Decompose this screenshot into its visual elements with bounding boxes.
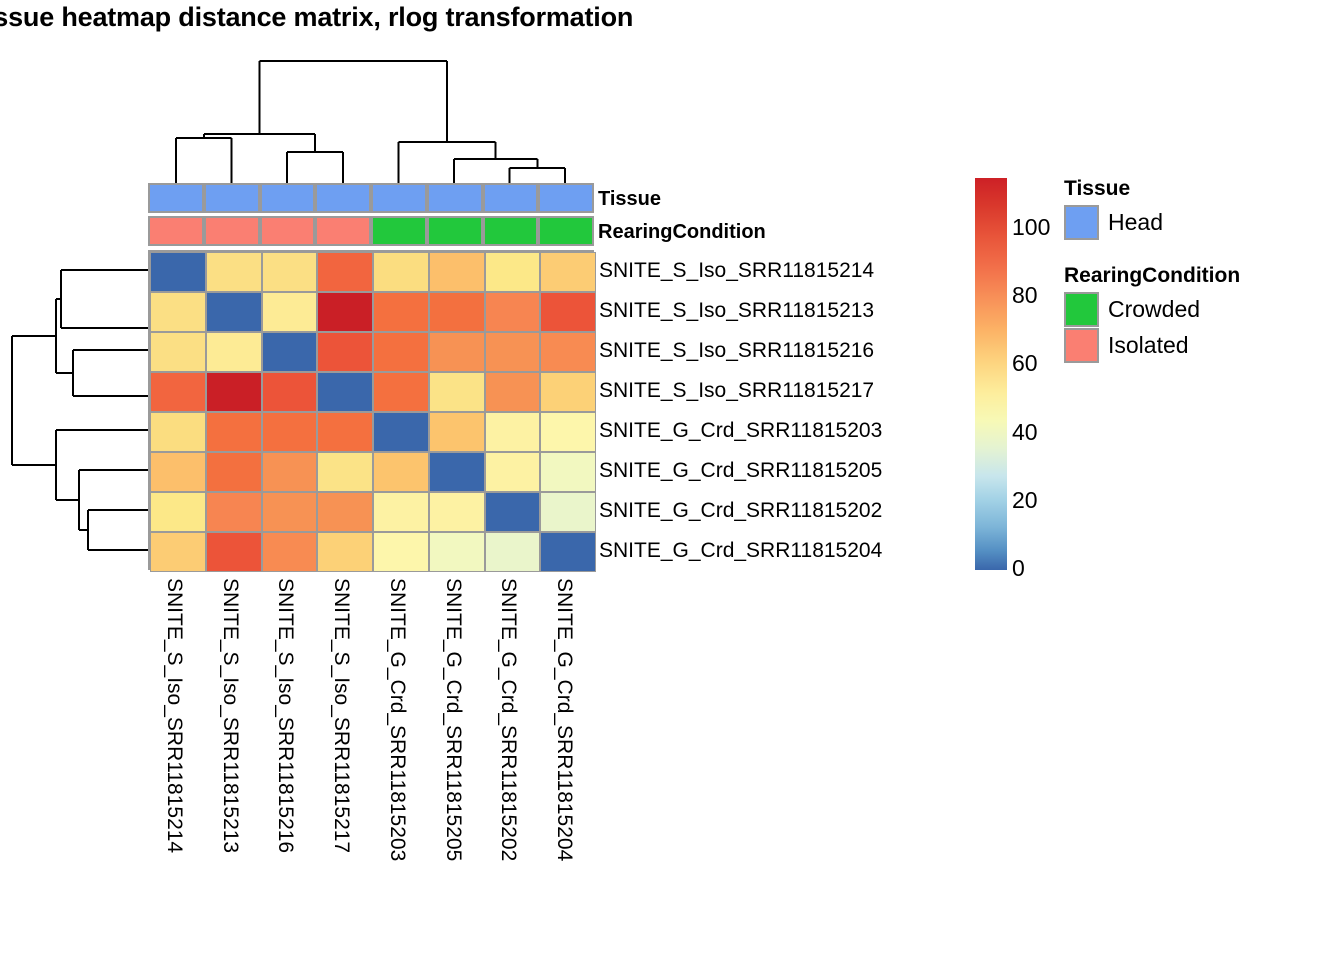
heatmap-cell	[485, 412, 541, 452]
annotation-cell	[204, 183, 260, 213]
heatmap-cell	[206, 492, 262, 532]
row-label: SNITE_G_Crd_SRR11815203	[599, 420, 882, 441]
heatmap-cell	[262, 532, 318, 572]
annotation-cell	[371, 183, 427, 213]
heatmap-cell	[150, 492, 206, 532]
row-label: SNITE_S_Iso_SRR11815217	[599, 380, 874, 401]
heatmap-cell	[206, 412, 262, 452]
heatmap-cell	[150, 532, 206, 572]
heatmap-cell	[150, 452, 206, 492]
legend-swatch[interactable]	[1064, 205, 1099, 240]
row-label: SNITE_G_Crd_SRR11815205	[599, 460, 882, 481]
heatmap-cell	[373, 372, 429, 412]
legend-item-label: Isolated	[1108, 334, 1189, 357]
heatmap-figure: issue heatmap distance matrix, rlog tran…	[0, 0, 1344, 960]
row-label: SNITE_G_Crd_SRR11815202	[599, 500, 882, 521]
heatmap-cell	[373, 412, 429, 452]
heatmap-cell	[429, 532, 485, 572]
heatmap-cell	[317, 332, 373, 372]
legend-swatch[interactable]	[1064, 328, 1099, 363]
annotation-cell	[483, 183, 539, 213]
row-label: SNITE_S_Iso_SRR11815216	[599, 340, 874, 361]
annotation-cell	[260, 216, 316, 246]
annotation-cell	[148, 216, 204, 246]
annotation-bar-tissue	[148, 183, 594, 213]
color-scale-tick-label: 60	[1012, 352, 1038, 375]
color-scale-bar	[975, 178, 1007, 570]
heatmap-cell	[540, 452, 596, 492]
annotation-cell	[315, 216, 371, 246]
heatmap-cell	[206, 292, 262, 332]
heatmap-cell	[485, 492, 541, 532]
heatmap-cell	[262, 412, 318, 452]
heatmap-cell	[485, 372, 541, 412]
color-scale-tick-label: 0	[1012, 557, 1025, 580]
heatmap-cell	[373, 492, 429, 532]
heatmap-cell	[540, 532, 596, 572]
annotation-cell	[260, 183, 316, 213]
heatmap-cell	[485, 452, 541, 492]
heatmap-cell	[540, 492, 596, 532]
heatmap-cell	[150, 292, 206, 332]
heatmap-cell	[485, 292, 541, 332]
heatmap-cell	[317, 292, 373, 332]
heatmap-cell	[429, 492, 485, 532]
heatmap-cell	[262, 492, 318, 532]
heatmap-cell	[206, 332, 262, 372]
heatmap-cell	[317, 412, 373, 452]
heatmap-cell	[317, 532, 373, 572]
heatmap-cell	[150, 332, 206, 372]
column-label: SNITE_G_Crd_SRR11815202	[498, 578, 519, 861]
heatmap-grid	[148, 250, 594, 570]
heatmap-cell	[373, 532, 429, 572]
heatmap-cell	[150, 412, 206, 452]
heatmap-cell	[206, 452, 262, 492]
heatmap-cell	[485, 332, 541, 372]
column-label: SNITE_S_Iso_SRR11815214	[164, 578, 185, 853]
heatmap-cell	[429, 372, 485, 412]
heatmap-cell	[317, 252, 373, 292]
annotation-cell	[483, 216, 539, 246]
column-label: SNITE_G_Crd_SRR11815204	[554, 578, 575, 861]
column-label: SNITE_S_Iso_SRR11815217	[331, 578, 352, 853]
annotation-cell	[427, 183, 483, 213]
page-title: issue heatmap distance matrix, rlog tran…	[0, 2, 633, 33]
annotation-bar-rearingcondition	[148, 216, 594, 246]
heatmap-cell	[262, 252, 318, 292]
heatmap-cell	[206, 532, 262, 572]
heatmap-cell	[429, 292, 485, 332]
annotation-cell	[204, 216, 260, 246]
heatmap-cell	[206, 372, 262, 412]
annotation-cell	[538, 216, 594, 246]
heatmap-cell	[206, 252, 262, 292]
heatmap-cell	[373, 292, 429, 332]
heatmap-cell	[373, 332, 429, 372]
heatmap-cell	[485, 252, 541, 292]
annotation-cell	[148, 183, 204, 213]
heatmap-cell	[317, 492, 373, 532]
row-dendrogram	[6, 250, 150, 570]
color-scale-tick-label: 40	[1012, 421, 1038, 444]
color-scale-tick-label: 20	[1012, 489, 1038, 512]
annotation-cell	[371, 216, 427, 246]
heatmap-cell	[540, 252, 596, 292]
heatmap-cell	[429, 332, 485, 372]
heatmap-cell	[262, 452, 318, 492]
legend-item-label: Crowded	[1108, 298, 1200, 321]
column-dendrogram	[140, 46, 600, 186]
column-label: SNITE_G_Crd_SRR11815205	[443, 578, 464, 861]
annotation-cell	[427, 216, 483, 246]
heatmap-cell	[373, 252, 429, 292]
row-label: SNITE_S_Iso_SRR11815213	[599, 300, 874, 321]
heatmap-cell	[485, 532, 541, 572]
heatmap-cell	[429, 252, 485, 292]
annotation-label-tissue: Tissue	[598, 189, 661, 209]
column-label: SNITE_G_Crd_SRR11815203	[387, 578, 408, 861]
heatmap-cell	[317, 372, 373, 412]
row-label: SNITE_S_Iso_SRR11815214	[599, 260, 874, 281]
annotation-label-rearingcondition: RearingCondition	[598, 222, 766, 242]
heatmap-cell	[317, 452, 373, 492]
heatmap-cell	[540, 372, 596, 412]
heatmap-cell	[429, 412, 485, 452]
legend-title: RearingCondition	[1064, 265, 1240, 286]
column-label: SNITE_S_Iso_SRR11815216	[275, 578, 296, 853]
legend-swatch[interactable]	[1064, 292, 1099, 327]
legend-title: Tissue	[1064, 178, 1130, 199]
heatmap-cell	[262, 372, 318, 412]
heatmap-cell	[150, 252, 206, 292]
heatmap-cell	[262, 332, 318, 372]
color-scale-tick-label: 100	[1012, 216, 1050, 239]
heatmap-cell	[429, 452, 485, 492]
annotation-cell	[315, 183, 371, 213]
legend-item-label: Head	[1108, 211, 1163, 234]
heatmap-cell	[150, 372, 206, 412]
heatmap-cell	[373, 452, 429, 492]
row-label: SNITE_G_Crd_SRR11815204	[599, 540, 882, 561]
heatmap-cell	[540, 292, 596, 332]
heatmap-cell	[540, 332, 596, 372]
heatmap-cell	[262, 292, 318, 332]
color-scale-tick-label: 80	[1012, 284, 1038, 307]
column-label: SNITE_S_Iso_SRR11815213	[220, 578, 241, 853]
heatmap-cell	[540, 412, 596, 452]
annotation-cell	[538, 183, 594, 213]
